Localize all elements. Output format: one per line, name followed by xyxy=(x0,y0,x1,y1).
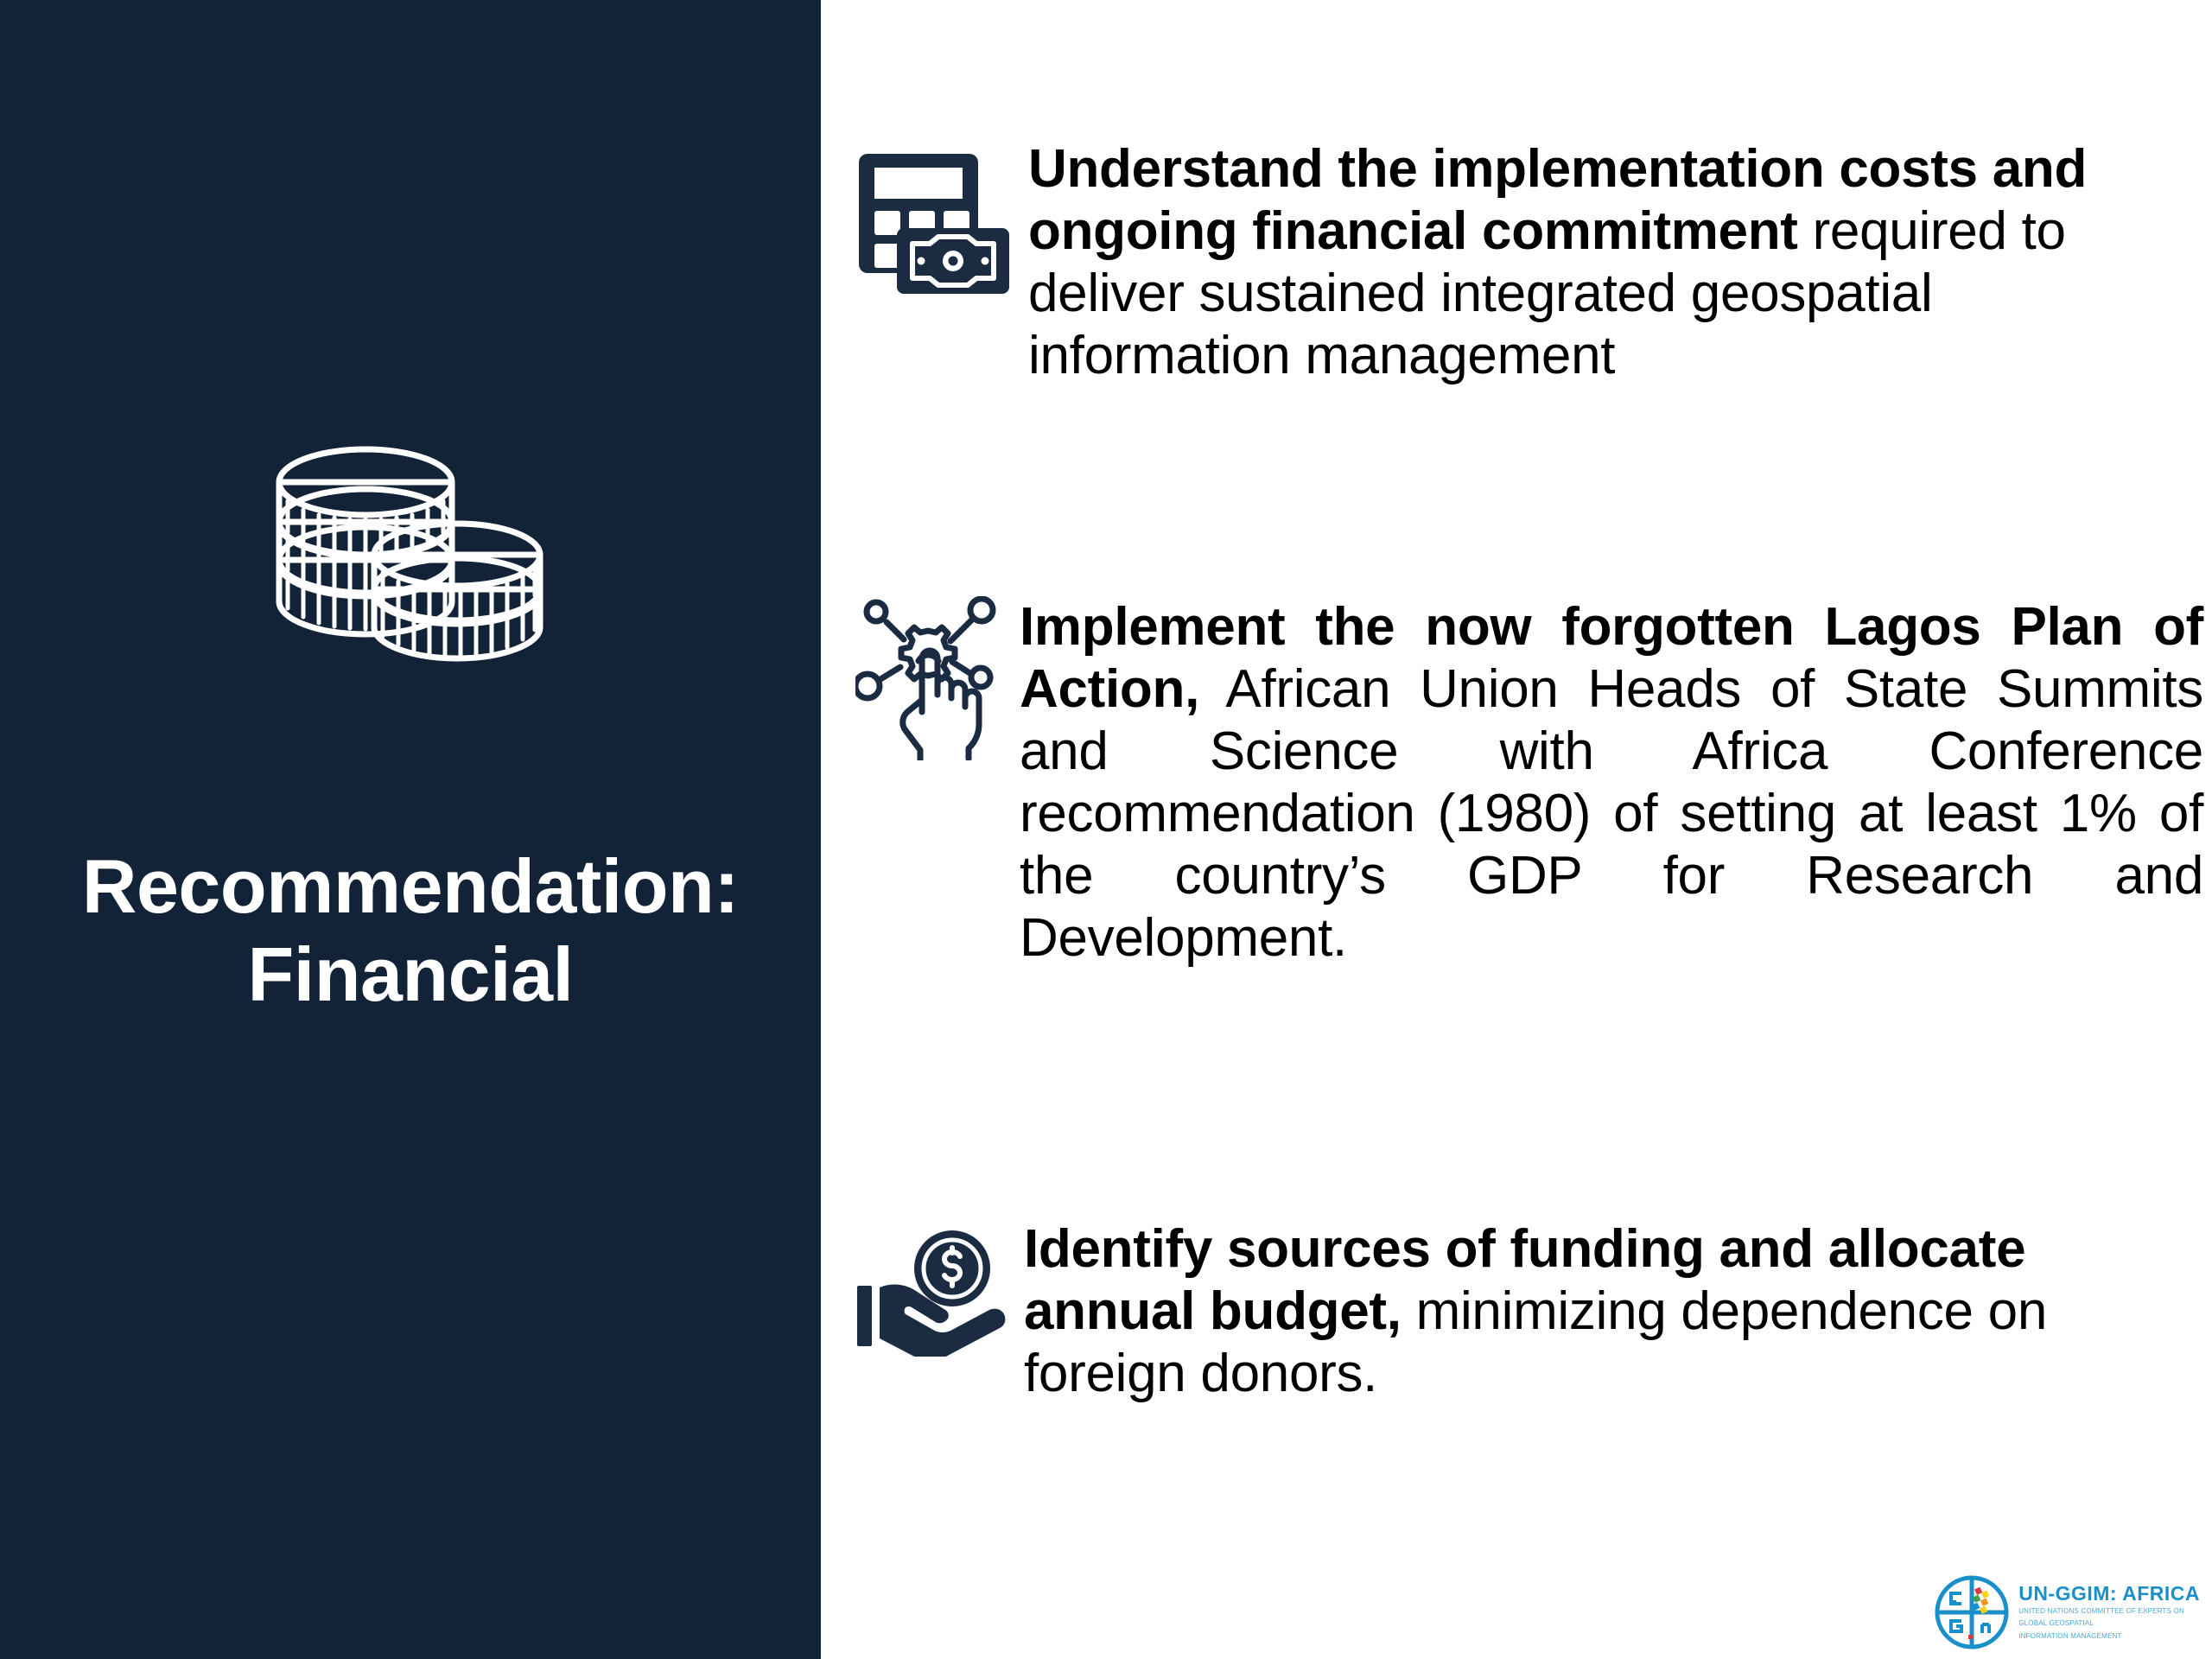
logo-subtitle-line-1: UNITED NATIONS COMMITTEE OF EXPERTS ON xyxy=(2018,1606,2200,1617)
page-title: Recommendation: Financial xyxy=(0,842,821,1019)
logo-subtitle-line-2: GLOBAL GEOSPATIAL xyxy=(2018,1618,2200,1629)
content-panel: Understand the implementation costs and … xyxy=(821,0,2212,1659)
slide: Recommendation: Financial xyxy=(0,0,2212,1659)
un-ggim-africa-globe-logo xyxy=(1932,1573,2012,1652)
logo-title: UN-GGIM: AFRICA xyxy=(2018,1584,2200,1604)
left-title-panel: Recommendation: Financial xyxy=(0,0,821,1659)
logo-text-block: UN-GGIM: AFRICA UNITED NATIONS COMMITTEE… xyxy=(2018,1584,2200,1642)
recommendation-item-1: Understand the implementation costs and … xyxy=(855,138,2160,387)
recommendation-item-3-text: Identify sources of funding and allocate… xyxy=(1024,1218,2126,1405)
logo-subtitle-line-3: INFORMATION MANAGEMENT xyxy=(2018,1631,2200,1642)
un-ggim-africa-logo: UN-GGIM: AFRICA UNITED NATIONS COMMITTEE… xyxy=(1932,1571,2200,1654)
hand-gear-network-icon xyxy=(855,596,1002,760)
recommendation-item-2-text: Implement the now forgotten Lagos Plan o… xyxy=(1020,596,2203,969)
recommendation-item-3: Identify sources of funding and allocate… xyxy=(855,1218,2126,1405)
calculator-money-icon xyxy=(855,145,1011,301)
hand-holding-coin-icon xyxy=(855,1227,1007,1357)
page-title-line-2: Financial xyxy=(248,931,574,1017)
recommendation-item-2: Implement the now forgotten Lagos Plan o… xyxy=(855,596,2203,969)
stacked-coins-icon xyxy=(264,432,557,683)
recommendation-item-1-text: Understand the implementation costs and … xyxy=(1028,138,2160,387)
page-title-line-1: Recommendation: xyxy=(82,843,739,929)
